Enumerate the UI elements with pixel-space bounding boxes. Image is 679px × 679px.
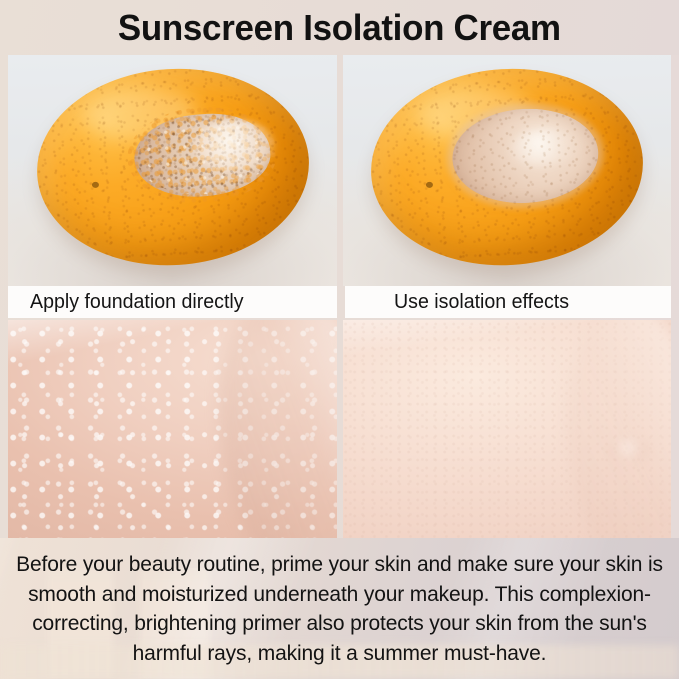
orange-scene-after (343, 55, 671, 286)
orange-fruit-icon (365, 60, 648, 272)
caption-bar-before: Apply foundation directly (8, 286, 337, 318)
orange-highlight (81, 85, 198, 143)
foundation-gloss-spot (192, 117, 277, 173)
orange-highlight (415, 85, 532, 143)
skin-scene-after (343, 320, 671, 538)
description-section: Before your beauty routine, prime your s… (0, 538, 679, 679)
comparison-image-before-orange (8, 55, 337, 286)
foundation-patch-smooth (449, 104, 601, 207)
caption-label-before: Apply foundation directly (30, 291, 244, 314)
page-title: Sunscreen Isolation Cream (118, 7, 561, 49)
comparison-image-after-orange (343, 55, 671, 286)
orange-fruit-icon (31, 60, 314, 272)
skin-scene-before (8, 320, 337, 538)
comparison-image-before-skin (8, 320, 337, 538)
orange-stem-mark (92, 181, 99, 187)
foundation-patch-uneven (131, 110, 272, 200)
title-banner: Sunscreen Isolation Cream (0, 0, 679, 55)
caption-label-after: Use isolation effects (394, 291, 569, 314)
product-infographic: Sunscreen Isolation Cream Apply foundati… (0, 0, 679, 679)
knuckle-highlight (609, 438, 651, 462)
comparison-image-after-skin (343, 320, 671, 538)
orange-stem-mark (426, 181, 433, 187)
caption-bar-after: Use isolation effects (345, 286, 671, 318)
description-text: Before your beauty routine, prime your s… (0, 550, 679, 668)
orange-scene-before (8, 55, 337, 286)
